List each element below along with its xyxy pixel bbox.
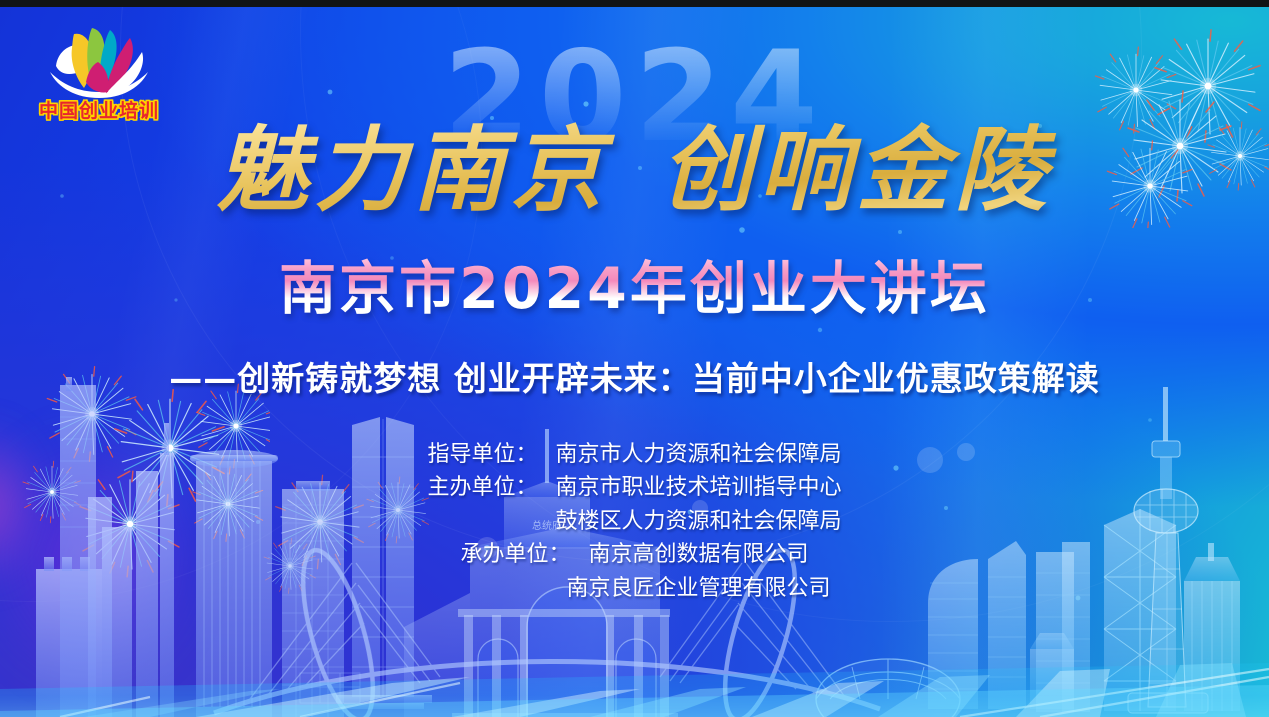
logo-text: 中国创业培训 (24, 96, 174, 123)
organizer-row: 鼓楼区人力资源和社会保障局 (0, 505, 1269, 538)
main-title: 魅力南京创响金陵 (0, 122, 1269, 219)
sub-title: 南京市2024年创业大讲坛 (0, 258, 1269, 321)
organizer-value: 南京市职业技术培训指导中心 (555, 471, 841, 504)
top-black-band (0, 0, 1269, 7)
main-title-left: 魅力南京 (216, 116, 608, 224)
organizer-value: 南京高创数据有限公司 (588, 538, 808, 571)
main-title-right: 创响金陵 (661, 116, 1053, 224)
organizer-row: 承办单位：南京高创数据有限公司 (0, 538, 1269, 571)
organizer-label: 主办单位： (427, 471, 555, 504)
organizer-row: 南京良匠企业管理有限公司 (0, 572, 1269, 605)
organizer-value: 南京市人力资源和社会保障局 (555, 438, 841, 471)
organizer-label: 指导单位： (427, 438, 555, 471)
organizer-row: 指导单位：南京市人力资源和社会保障局 (0, 438, 1269, 471)
brand-logo: 中国创业培训 (24, 22, 174, 132)
lotus-dove-emblem-icon (44, 22, 154, 100)
organizer-value: 南京良匠企业管理有限公司 (566, 572, 830, 605)
organizer-value: 鼓楼区人力资源和社会保障局 (555, 505, 841, 538)
poster-canvas: 2024 (0, 0, 1269, 717)
organizer-block: 指导单位：南京市人力资源和社会保障局 主办单位：南京市职业技术培训指导中心 鼓楼… (0, 438, 1269, 605)
organizer-label: 承办单位： (460, 538, 588, 571)
slogan-line: ——创新铸就梦想 创业开辟未来：当前中小企业优惠政策解读 (0, 352, 1269, 400)
organizer-row: 主办单位：南京市职业技术培训指导中心 (0, 471, 1269, 504)
